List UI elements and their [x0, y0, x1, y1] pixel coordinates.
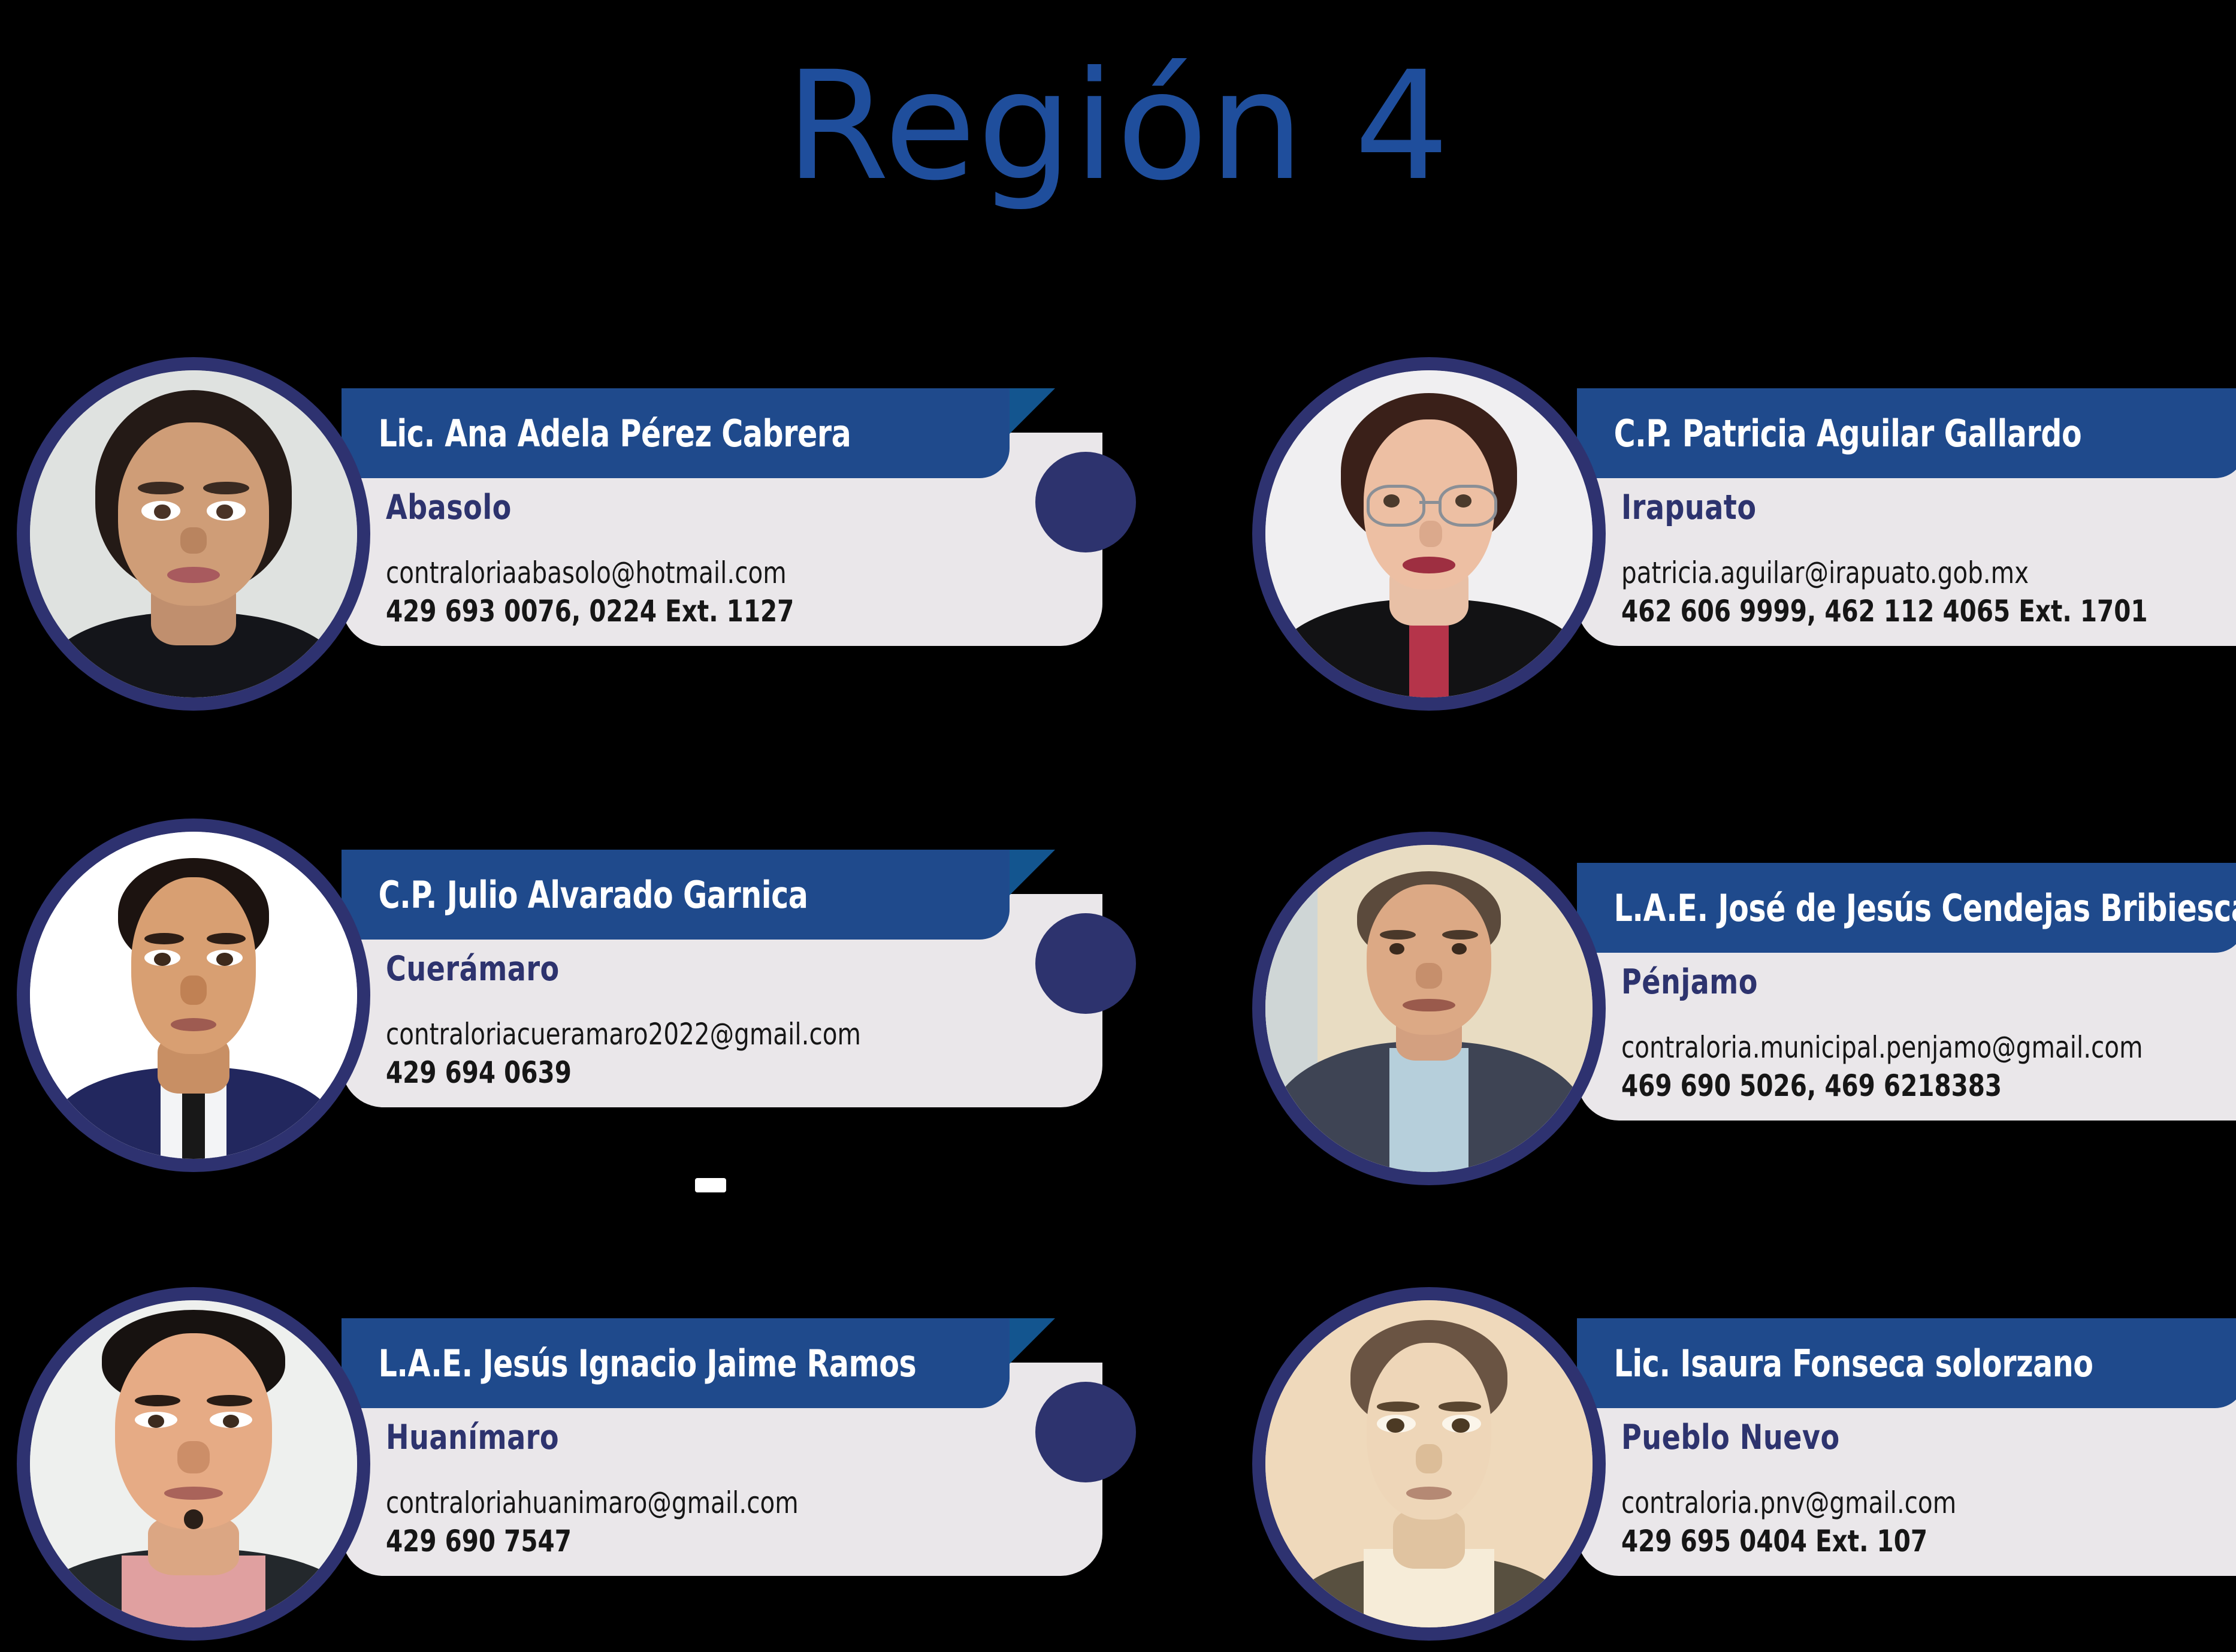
contact-card-grid: Lic. Ana Adela Pérez Cabrera Abasolo con…: [0, 0, 2236, 1652]
municipality-label: Pénjamo: [1621, 962, 2236, 1002]
decorative-circle: [1035, 1382, 1136, 1482]
municipality-label: Pueblo Nuevo: [1621, 1418, 2236, 1457]
banner-fold-icon: [1010, 388, 1055, 434]
avatar-photo: [30, 370, 357, 697]
email-text[interactable]: contraloria.pnv@gmail.com: [1621, 1484, 2236, 1522]
avatar: [1252, 1287, 1606, 1641]
email-text[interactable]: contraloria.municipal.penjamo@gmail.com: [1621, 1028, 2236, 1067]
phone-text[interactable]: 469 690 5026, 469 6218383: [1621, 1067, 2236, 1105]
avatar-photo: [30, 1300, 357, 1627]
card-panel: C.P. Patricia Aguilar Gallardo Irapuato …: [1577, 388, 2236, 646]
card-panel: L.A.E. José de Jesús Cendejas Bribiesca …: [1577, 863, 2236, 1121]
card-details: Cuerámaro contraloriacueramaro2022@gmail…: [342, 894, 1102, 1107]
municipality-label: Cuerámaro: [386, 949, 1031, 989]
phone-text[interactable]: 429 690 7547: [386, 1522, 1031, 1560]
avatar: [17, 357, 370, 711]
email-text[interactable]: patricia.aguilar@irapuato.gob.mx: [1621, 554, 2236, 592]
decorative-circle: [1035, 913, 1136, 1014]
phone-text[interactable]: 429 693 0076, 0224 Ext. 1127: [386, 592, 1031, 630]
phone-text[interactable]: 429 695 0404 Ext. 107: [1621, 1522, 2236, 1560]
banner-fold-icon: [1010, 1318, 1055, 1364]
avatar: [17, 819, 370, 1172]
municipality-label: Abasolo: [386, 488, 1031, 527]
municipality-label: Huanímaro: [386, 1418, 1031, 1457]
avatar: [1252, 357, 1606, 711]
card-panel: Lic. Ana Adela Pérez Cabrera Abasolo con…: [342, 388, 1102, 646]
phone-text[interactable]: 462 606 9999, 462 112 4065 Ext. 1701: [1621, 592, 2236, 630]
avatar: [17, 1287, 370, 1641]
card-details: Pueblo Nuevo contraloria.pnv@gmail.com 4…: [1577, 1363, 2236, 1576]
card-details: Huanímaro contraloriahuanimaro@gmail.com…: [342, 1363, 1102, 1576]
decorative-circle: [1035, 452, 1136, 552]
email-text[interactable]: contraloriaabasolo@hotmail.com: [386, 554, 1031, 592]
municipality-label: Irapuato: [1621, 488, 2236, 527]
card-panel: Lic. Isaura Fonseca solorzano Pueblo Nue…: [1577, 1318, 2236, 1576]
avatar-photo: [1265, 845, 1593, 1172]
avatar-photo: [1265, 1300, 1593, 1627]
banner-fold-icon: [1010, 850, 1055, 895]
card-details: Abasolo contraloriaabasolo@hotmail.com 4…: [342, 433, 1102, 646]
card-panel: C.P. Julio Alvarado Garnica Cuerámaro co…: [342, 850, 1102, 1107]
card-panel: L.A.E. Jesús Ignacio Jaime Ramos Huaníma…: [342, 1318, 1102, 1576]
stray-dash-mark: [695, 1178, 726, 1192]
avatar-photo: [30, 832, 357, 1159]
email-text[interactable]: contraloriahuanimaro@gmail.com: [386, 1484, 1031, 1522]
avatar-photo: [1265, 370, 1593, 697]
card-details: Pénjamo contraloria.municipal.penjamo@gm…: [1577, 907, 2236, 1121]
avatar: [1252, 832, 1606, 1185]
email-text[interactable]: contraloriacueramaro2022@gmail.com: [386, 1015, 1031, 1053]
phone-text[interactable]: 429 694 0639: [386, 1053, 1031, 1092]
card-details: Irapuato patricia.aguilar@irapuato.gob.m…: [1577, 433, 2236, 646]
